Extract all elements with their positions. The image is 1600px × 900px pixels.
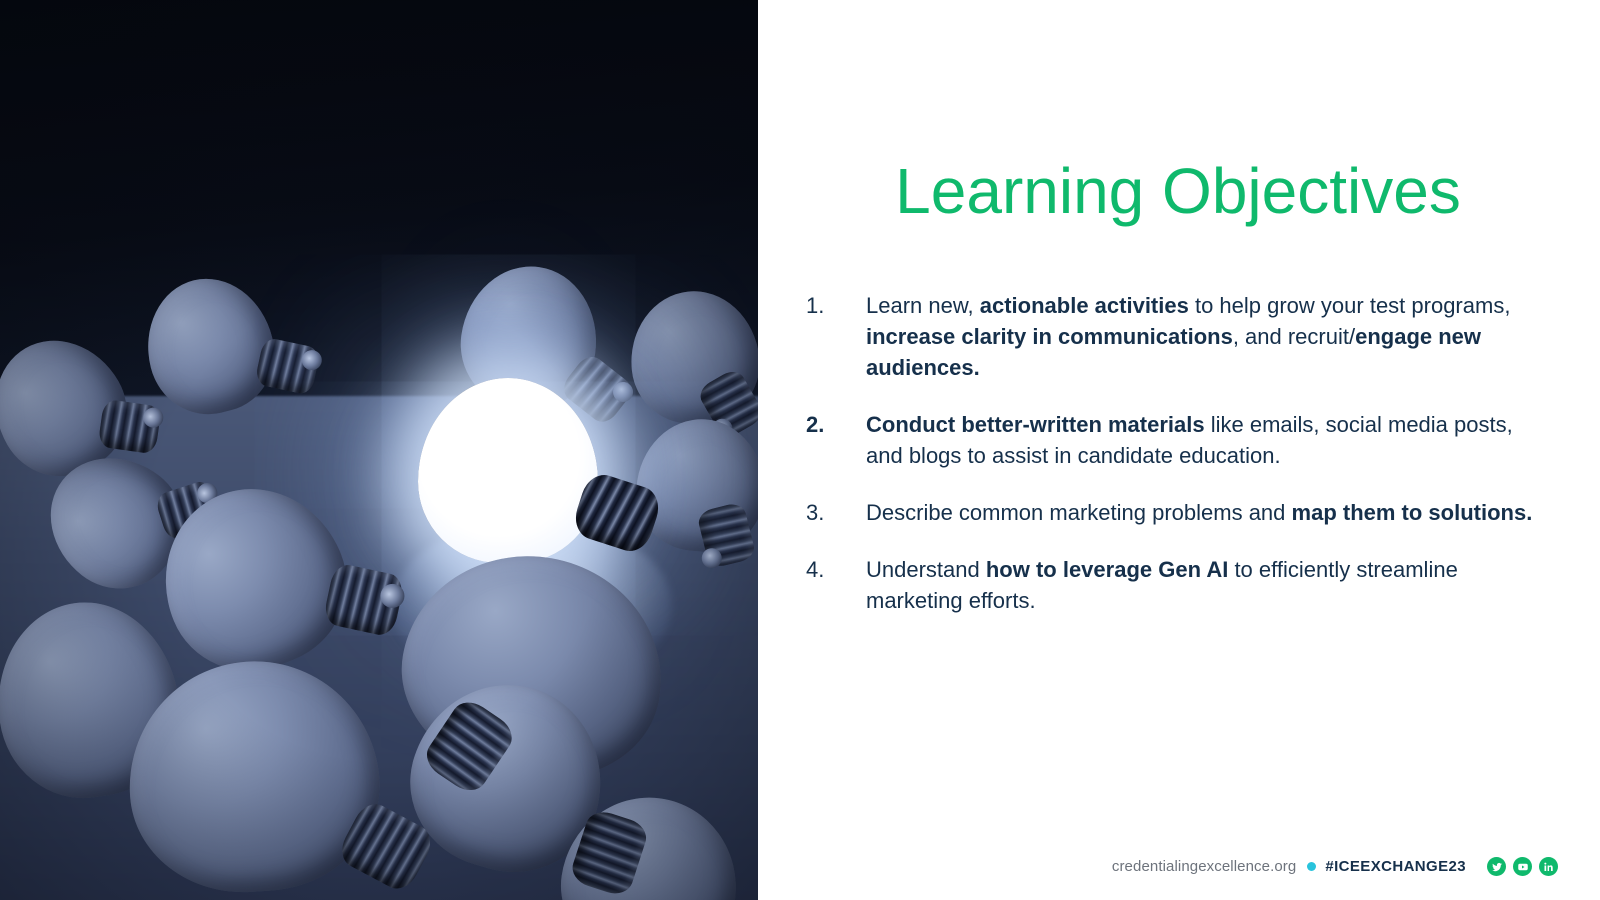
objective-text-emphasis: actionable activities bbox=[980, 293, 1189, 318]
twitter-icon[interactable] bbox=[1487, 857, 1506, 876]
slide: Learning Objectives 1.Learn new, actiona… bbox=[0, 0, 1600, 900]
objective-item: 1.Learn new, actionable activities to he… bbox=[806, 290, 1546, 383]
objective-item: 4.Understand how to leverage Gen AI to e… bbox=[806, 554, 1546, 616]
objective-text: Describe common marketing problems and m… bbox=[866, 497, 1546, 528]
objective-text-emphasis: increase clarity in communications bbox=[866, 324, 1233, 349]
page-title: Learning Objectives bbox=[818, 158, 1538, 225]
objective-number: 3. bbox=[806, 497, 866, 528]
objective-text-emphasis: Conduct better-written materials bbox=[866, 412, 1205, 437]
lightbulb-photo-panel bbox=[0, 0, 758, 900]
objective-text: Conduct better-written materials like em… bbox=[866, 409, 1546, 471]
objective-text: Learn new, actionable activities to help… bbox=[866, 290, 1546, 383]
objective-text-run: , and recruit/ bbox=[1233, 324, 1355, 349]
objective-number: 2. bbox=[806, 409, 866, 440]
objective-text: Understand how to leverage Gen AI to eff… bbox=[866, 554, 1546, 616]
objective-text-emphasis: how to leverage Gen AI bbox=[986, 557, 1228, 582]
objective-item: 3.Describe common marketing problems and… bbox=[806, 497, 1546, 528]
objective-text-run: Understand bbox=[866, 557, 986, 582]
youtube-icon[interactable] bbox=[1513, 857, 1532, 876]
photo-vignette bbox=[0, 0, 758, 900]
objective-number: 4. bbox=[806, 554, 866, 585]
footer-hashtag: #ICEEXCHANGE23 bbox=[1325, 858, 1466, 875]
slide-footer: credentialingexcellence.org #ICEEXCHANGE… bbox=[758, 857, 1600, 876]
learning-objectives-list: 1.Learn new, actionable activities to he… bbox=[806, 290, 1546, 616]
footer-website-url[interactable]: credentialingexcellence.org bbox=[1112, 858, 1296, 875]
footer-separator-dot bbox=[1307, 862, 1316, 871]
objective-text-run: Learn new, bbox=[866, 293, 980, 318]
social-links bbox=[1480, 857, 1558, 876]
objective-item: 2.Conduct better-written materials like … bbox=[806, 409, 1546, 471]
objective-text-emphasis: map them to solutions. bbox=[1292, 500, 1533, 525]
linkedin-icon[interactable] bbox=[1539, 857, 1558, 876]
objective-number: 1. bbox=[806, 290, 866, 321]
objective-text-run: to help grow your test programs, bbox=[1189, 293, 1511, 318]
content-panel: Learning Objectives 1.Learn new, actiona… bbox=[758, 0, 1600, 900]
objective-text-run: Describe common marketing problems and bbox=[866, 500, 1292, 525]
